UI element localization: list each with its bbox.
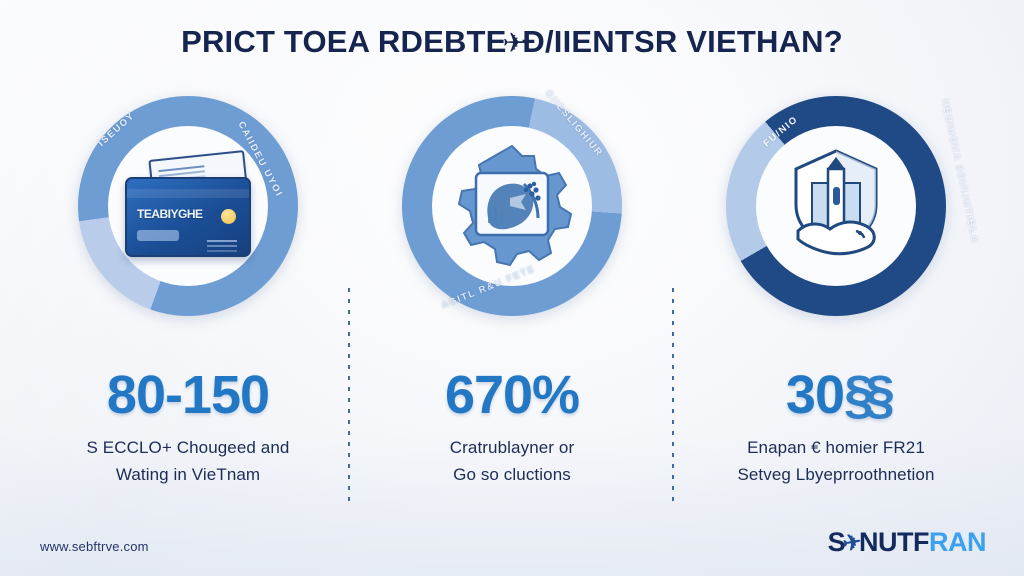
gear-map-icon [437,131,587,281]
page-title: PRICT TOEA RDEBTE✈Ð/IIENTSR VIETHAN? [0,24,1024,60]
stat-value-3-text: 30 [786,365,844,425]
stat-value-2: 670% [352,364,672,426]
brand-logo[interactable]: S✈NUTFRAN [828,527,986,558]
card-lines [207,240,237,242]
card-body: TEABIYGHE [125,177,251,257]
gear-map-svg [446,140,578,272]
credit-card-icon: TEABIYGHE [113,131,263,281]
stat-caption-2: Cratrublayner or Go so cluctions [356,434,668,488]
stat-column-1: ISEUOY CAIIDEU UYOI TEABIYGHE 80-150 S E… [28,96,348,506]
card-chip-icon [221,209,236,224]
page-title-part-b: Ð/IIENTSR VIETHAN? [522,24,843,59]
stat-column-2: GIIESLIGHIUR AGITL R&U FETE [352,96,672,506]
stat-caption-1: S ECCLO+ Chougeed and Wating in VieTnam [32,434,344,488]
stat-value-1-text: 80-150 [107,365,269,425]
stat-value-3: 30§§ [676,364,996,426]
page-title-part-a: PRICT TOEA RDEBTE [181,24,506,59]
shield-building-hand-svg [772,143,900,269]
stat-caption-2-line-1: Cratrublayner or [356,434,668,461]
donut-ring-gear: GIIESLIGHIUR AGITL R&U FETE [402,96,622,316]
brand-logo-part-2: NUTF [859,527,929,557]
column-divider-2 [672,288,674,506]
stat-caption-3-line-1: Enapan € homier FR21 [680,434,992,461]
stat-caption-1-line-2: Wating in VieTnam [32,461,344,488]
stat-value-3-glitch: §§ [844,364,886,426]
ring-label-right-3: IIEUIUOI/A 3OI/IJUTIBLA [939,98,980,244]
stat-caption-2-line-2: Go so cluctions [356,461,668,488]
shield-building-hand-icon [761,131,911,281]
stat-caption-1-line-1: S ECCLO+ Chougeed and [32,434,344,461]
column-divider-1 [348,288,350,506]
donut-ring-credit-card: ISEUOY CAIIDEU UYOI TEABIYGHE [78,96,298,316]
card-pill [137,230,179,241]
stat-caption-3-line-2: Setveg Lbyeprroothnetion [680,461,992,488]
card-label: TEABIYGHE [137,207,203,221]
stat-column-3: FU/NIO IIEUIUOI/A 3OI/IJUTIBLA 30§§ Enap… [676,96,996,506]
stat-value-1: 80-150 [28,364,348,426]
footer-website-url[interactable]: www.sebftrve.com [40,539,149,554]
donut-ring-shield: FU/NIO IIEUIUOI/A 3OI/IJUTIBLA [726,96,946,316]
brand-logo-part-3: RAN [929,527,986,557]
stat-value-2-text: 670% [445,365,579,425]
stat-caption-3: Enapan € homier FR21 Setveg Lbyeprroothn… [680,434,992,488]
